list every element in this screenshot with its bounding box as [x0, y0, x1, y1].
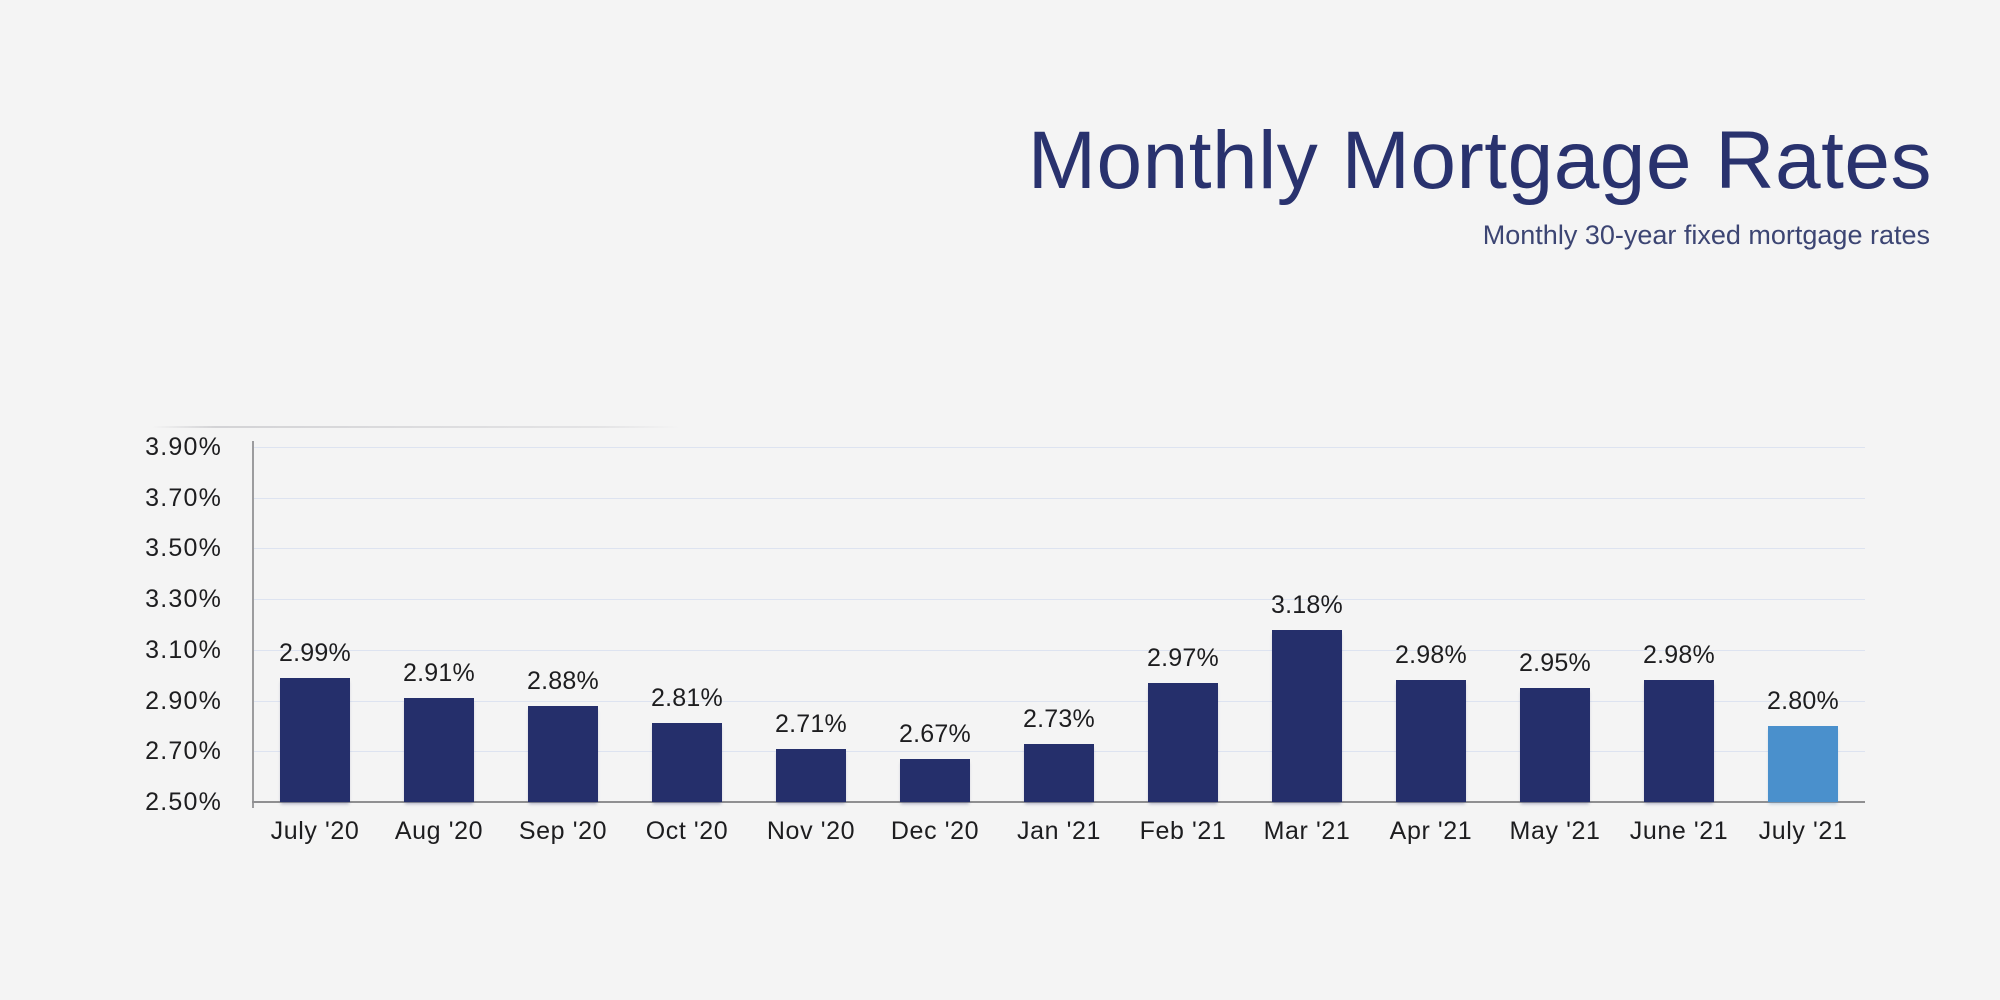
bar-slot: 2.97% — [1121, 447, 1245, 802]
y-axis-tick-labels: 3.90%3.70%3.50%3.30%3.10%2.90%2.70%2.50% — [0, 0, 240, 1000]
bar[interactable] — [900, 759, 970, 802]
bar-slot: 2.80% — [1741, 447, 1865, 802]
bar-slot: 2.71% — [749, 447, 873, 802]
bar-value-label: 2.80% — [1767, 689, 1839, 714]
bar-slot: 2.81% — [625, 447, 749, 802]
bar-value-label: 2.73% — [1023, 707, 1095, 732]
x-axis-tick-label: July '20 — [271, 816, 360, 846]
bar-value-label: 2.88% — [527, 669, 599, 694]
bar-slot: 2.98% — [1369, 447, 1493, 802]
bar-value-label: 2.98% — [1643, 643, 1715, 668]
x-axis-tick-label: Aug '20 — [395, 816, 483, 846]
bar[interactable] — [1520, 688, 1590, 802]
bar[interactable] — [1396, 680, 1466, 802]
x-axis-tick-label: June '21 — [1630, 816, 1729, 846]
bar-value-label: 2.81% — [651, 686, 723, 711]
x-axis-tick-labels: July '20Aug '20Sep '20Oct '20Nov '20Dec … — [253, 816, 1865, 856]
x-axis-tick-label: Nov '20 — [767, 816, 855, 846]
bar[interactable] — [404, 698, 474, 802]
x-axis-tick-label: July '21 — [1759, 816, 1848, 846]
bar-slot: 2.91% — [377, 447, 501, 802]
bar-slot: 2.99% — [253, 447, 377, 802]
bar-slot: 2.88% — [501, 447, 625, 802]
x-axis-tick-label: Mar '21 — [1264, 816, 1351, 846]
y-axis-tick-label: 3.30% — [0, 587, 240, 612]
y-axis-tick-label: 3.70% — [0, 486, 240, 511]
bar-highlighted[interactable] — [1768, 726, 1838, 802]
y-axis-tick-label: 3.50% — [0, 536, 240, 561]
bar-slot: 2.98% — [1617, 447, 1741, 802]
x-axis-tick-label: Dec '20 — [891, 816, 979, 846]
plot-area: 3.90%3.70%3.50%3.30%3.10%2.90%2.70%2.50%… — [0, 0, 2000, 1000]
y-axis-tick-label: 2.70% — [0, 739, 240, 764]
x-axis-tick-label: Sep '20 — [519, 816, 607, 846]
x-axis-tick-label: May '21 — [1510, 816, 1601, 846]
bar-value-label: 2.91% — [403, 661, 475, 686]
x-axis-tick-label: Oct '20 — [646, 816, 729, 846]
bar[interactable] — [1272, 630, 1342, 802]
bar-value-label: 2.67% — [899, 722, 971, 747]
bar-value-label: 2.95% — [1519, 651, 1591, 676]
bar[interactable] — [776, 749, 846, 802]
bar-slot: 2.95% — [1493, 447, 1617, 802]
bar-slot: 3.18% — [1245, 447, 1369, 802]
bar-value-label: 2.97% — [1147, 646, 1219, 671]
y-axis-tick-label: 2.90% — [0, 689, 240, 714]
x-axis-tick-label: Jan '21 — [1017, 816, 1101, 846]
bar-slot: 2.67% — [873, 447, 997, 802]
y-axis-tick-label: 3.10% — [0, 638, 240, 663]
bar-series: 2.99%2.91%2.88%2.81%2.71%2.67%2.73%2.97%… — [253, 447, 1865, 802]
bar-value-label: 3.18% — [1271, 593, 1343, 618]
bar[interactable] — [1148, 683, 1218, 802]
bar-slot: 2.73% — [997, 447, 1121, 802]
bar-value-label: 2.98% — [1395, 643, 1467, 668]
chart-canvas: Monthly Mortgage Rates Monthly 30-year f… — [0, 0, 2000, 1000]
bar-value-label: 2.99% — [279, 641, 351, 666]
y-axis-tick-label: 2.50% — [0, 790, 240, 815]
x-axis-tick-label: Feb '21 — [1140, 816, 1227, 846]
bar-value-label: 2.71% — [775, 712, 847, 737]
x-axis-tick-label: Apr '21 — [1390, 816, 1473, 846]
bar[interactable] — [528, 706, 598, 802]
bar[interactable] — [1024, 744, 1094, 802]
bar[interactable] — [1644, 680, 1714, 802]
y-axis-tick-label: 3.90% — [0, 435, 240, 460]
bar[interactable] — [280, 678, 350, 802]
bar[interactable] — [652, 723, 722, 802]
